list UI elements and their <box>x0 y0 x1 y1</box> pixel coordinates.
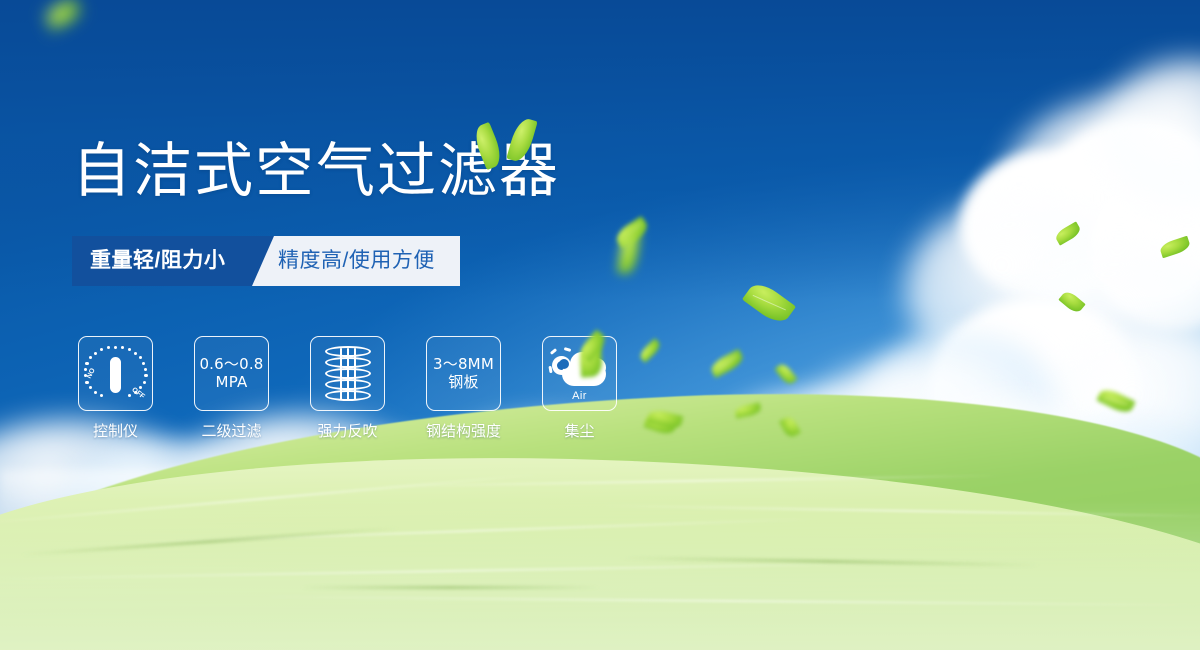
feature-icon-box <box>310 336 385 411</box>
pressure-unit: MPA <box>199 374 263 392</box>
coil-filter-icon <box>325 346 371 402</box>
feature-item-dust-collection[interactable]: Air 集尘 <box>542 336 617 441</box>
feature-label: 钢结构强度 <box>426 420 501 441</box>
feature-list: NO OFF 控制仪 0.6～0.8 MPA 二级过滤 <box>78 336 658 441</box>
feature-icon-box: 3～8MM 钢板 <box>426 336 501 411</box>
sprout-leaf-right <box>506 116 537 164</box>
steel-text-icon: 3～8MM 钢板 <box>433 356 494 391</box>
feature-label: 二级过滤 <box>201 420 261 441</box>
feature-label: 强力反吹 <box>317 420 377 441</box>
feature-label: 集尘 <box>564 420 594 441</box>
steel-thickness: 3～8MM <box>433 355 494 373</box>
pressure-value: 0.6～0.8 <box>199 355 263 373</box>
steel-material: 钢板 <box>433 374 494 392</box>
subtitle-left-text: 重量轻/阻力小 <box>90 236 225 286</box>
product-banner: 自洁式空气过滤器 重量轻/阻力小 精度高/使用方便 <box>0 0 1200 650</box>
feature-icon-box: 0.6～0.8 MPA <box>194 336 269 411</box>
feature-item-steel-strength[interactable]: 3～8MM 钢板 钢结构强度 <box>426 336 501 441</box>
feature-item-two-stage-filter[interactable]: 0.6～0.8 MPA 二级过滤 <box>194 336 269 441</box>
feature-icon-box: Air <box>542 336 617 411</box>
gauge-icon: NO OFF <box>85 345 147 403</box>
pressure-text-icon: 0.6～0.8 MPA <box>199 356 263 391</box>
subtitle-right-text: 精度高/使用方便 <box>278 236 435 286</box>
feature-item-controller[interactable]: NO OFF 控制仪 <box>78 336 153 441</box>
sprout-leaves-icon <box>478 112 542 170</box>
feature-item-strong-backblow[interactable]: 强力反吹 <box>310 336 385 441</box>
gauge-needle <box>110 357 121 393</box>
feature-label: 控制仪 <box>93 420 138 441</box>
feature-icon-box: NO OFF <box>78 336 153 411</box>
air-label: Air <box>550 390 610 402</box>
subtitle-bar: 重量轻/阻力小 精度高/使用方便 <box>72 236 460 286</box>
gauge-off-label: OFF <box>130 386 145 400</box>
